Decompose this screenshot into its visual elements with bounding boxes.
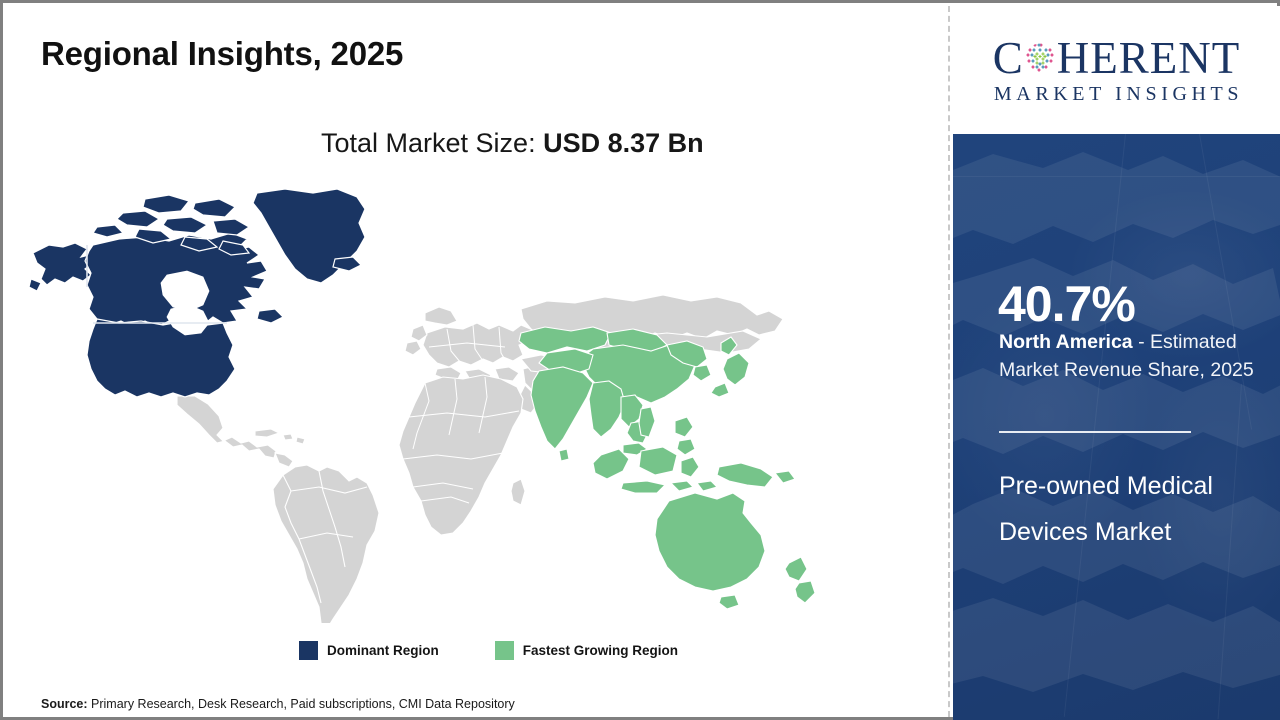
- logo-wordmark: C: [993, 35, 1241, 81]
- dotted-globe-icon: [1024, 42, 1056, 74]
- legend-item-dominant: Dominant Region: [299, 641, 439, 660]
- page-title: Regional Insights, 2025: [41, 35, 403, 73]
- company-logo: C: [953, 6, 1280, 134]
- fastest-growing-swatch-icon: [495, 641, 514, 660]
- market-share-percent: 40.7%: [998, 279, 1135, 329]
- region-name: North America: [999, 331, 1133, 353]
- source-note: Source: Primary Research, Desk Research,…: [41, 697, 515, 711]
- logo-letter-c: C: [993, 35, 1024, 81]
- panel-world-map-texture: [953, 134, 1280, 720]
- market-title: Pre-owned Medical Devices Market: [999, 464, 1249, 555]
- total-market-size-label: Total Market Size:: [321, 128, 543, 158]
- legend-label-fastest-growing: Fastest Growing Region: [523, 643, 678, 658]
- total-market-size: Total Market Size: USD 8.37 Bn: [321, 128, 704, 159]
- total-market-size-value: USD 8.37 Bn: [543, 128, 704, 158]
- map-region-asia-pacific: [519, 327, 815, 609]
- vertical-divider: [948, 6, 950, 717]
- source-label: Source:: [41, 697, 88, 711]
- left-content-pane: Regional Insights, 2025 Total Market Siz…: [3, 3, 951, 717]
- dominant-swatch-icon: [299, 641, 318, 660]
- map-legend: Dominant Region Fastest Growing Region: [299, 641, 678, 660]
- legend-item-fastest-growing: Fastest Growing Region: [495, 641, 678, 660]
- panel-divider-rule: [999, 431, 1191, 433]
- infographic-slide: Regional Insights, 2025 Total Market Siz…: [0, 0, 1280, 720]
- stat-panel: 40.7% North America - Estimated Market R…: [953, 134, 1280, 720]
- logo-tagline: MARKET INSIGHTS: [990, 83, 1243, 106]
- right-panel: C: [953, 6, 1280, 720]
- logo-word-herent: HERENT: [1057, 35, 1240, 81]
- source-text: Primary Research, Desk Research, Paid su…: [88, 697, 515, 711]
- map-region-north-america: [29, 189, 365, 397]
- world-map: [27, 183, 847, 623]
- market-share-description: North America - Estimated Market Revenue…: [999, 329, 1261, 384]
- legend-label-dominant: Dominant Region: [327, 643, 439, 658]
